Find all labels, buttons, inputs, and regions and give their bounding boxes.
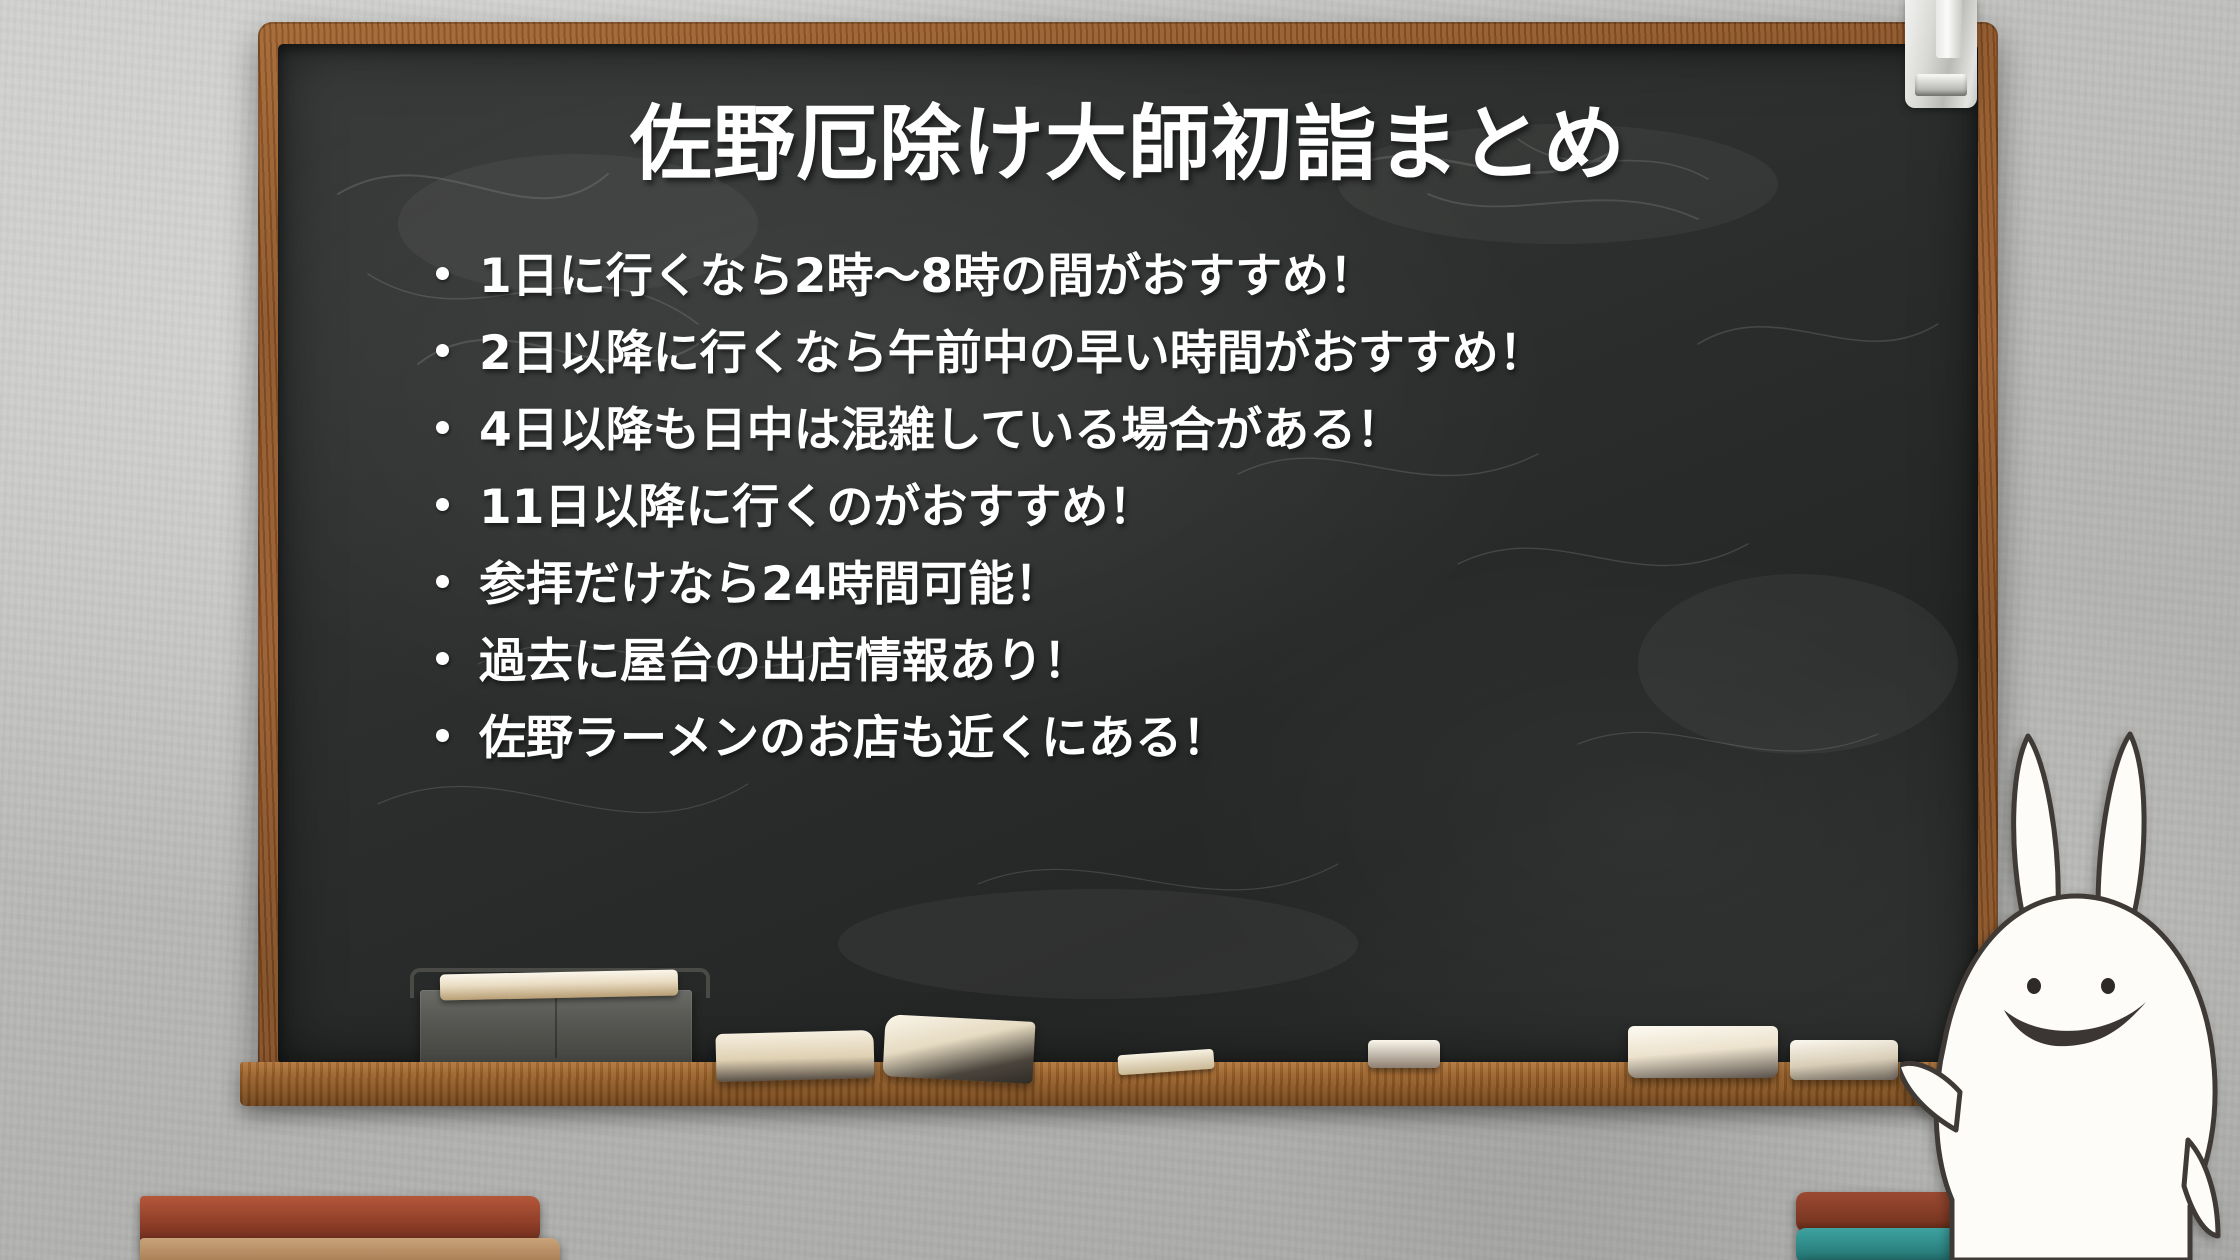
list-item: 4日以降も日中は混雑している場合がある！: [436, 407, 1938, 454]
board-content: 佐野厄除け大師初詣まとめ 1日に行くなら2時〜8時の間がおすすめ！ 2日以降に行…: [278, 44, 1978, 1064]
list-item: 佐野ラーメンのお店も近くにある！: [436, 715, 1938, 762]
list-item: 11日以降に行くのがおすすめ！: [436, 484, 1938, 531]
chalk-stick-icon: [440, 970, 678, 1001]
bullet-dot-icon: [436, 344, 449, 357]
list-item-text: 11日以降に行くのがおすすめ！: [479, 484, 1155, 531]
list-item: 参拝だけなら24時間可能！: [436, 561, 1938, 608]
blackboard-eraser-icon: [1628, 1026, 1778, 1078]
bullet-dot-icon: [436, 498, 449, 511]
chalk-fragment-icon: [1368, 1040, 1440, 1068]
blackboard-surface: 佐野厄除け大師初詣まとめ 1日に行くなら2時〜8時の間がおすすめ！ 2日以降に行…: [278, 44, 1978, 1064]
bullet-dot-icon: [436, 267, 449, 280]
list-item-text: 4日以降も日中は混雑している場合がある！: [479, 407, 1403, 454]
bullet-dot-icon: [436, 575, 449, 588]
list-item: 1日に行くなら2時〜8時の間がおすすめ！: [436, 253, 1938, 300]
hanger-strap: [1936, 0, 1962, 58]
book-icon: [140, 1196, 540, 1242]
rabbit-mascot-icon: [1900, 700, 2240, 1260]
blackboard-frame: 佐野厄除け大師初詣まとめ 1日に行くなら2時〜8時の間がおすすめ！ 2日以降に行…: [258, 22, 1998, 1082]
page-title: 佐野厄除け大師初詣まとめ: [318, 102, 1938, 189]
list-item: 2日以降に行くなら午前中の早い時間がおすすめ！: [436, 330, 1938, 377]
list-item-text: 2日以降に行くなら午前中の早い時間がおすすめ！: [479, 330, 1546, 377]
list-item: 過去に屋台の出店情報あり！: [436, 638, 1938, 685]
list-item-text: 佐野ラーメンのお店も近くにある！: [479, 715, 1229, 762]
bullet-dot-icon: [436, 421, 449, 434]
blackboard-eraser-icon: [1790, 1040, 1898, 1080]
list-item-text: 1日に行くなら2時〜8時の間がおすすめ！: [479, 253, 1376, 300]
blackboard-eraser-icon: [715, 1030, 874, 1082]
slide-canvas: 佐野厄除け大師初詣まとめ 1日に行くなら2時〜8時の間がおすすめ！ 2日以降に行…: [0, 0, 2240, 1260]
list-item-text: 参拝だけなら24時間可能！: [479, 561, 1061, 608]
chalk-box-icon: [420, 990, 692, 1066]
bullet-dot-icon: [436, 729, 449, 742]
list-item-text: 過去に屋台の出店情報あり！: [479, 638, 1090, 685]
book-stack-left: [140, 1196, 560, 1260]
book-icon: [140, 1238, 560, 1260]
summary-bullet-list: 1日に行くなら2時〜8時の間がおすすめ！ 2日以降に行くなら午前中の早い時間がお…: [436, 253, 1938, 762]
bullet-dot-icon: [436, 652, 449, 665]
blackboard-eraser-icon: [882, 1014, 1035, 1084]
